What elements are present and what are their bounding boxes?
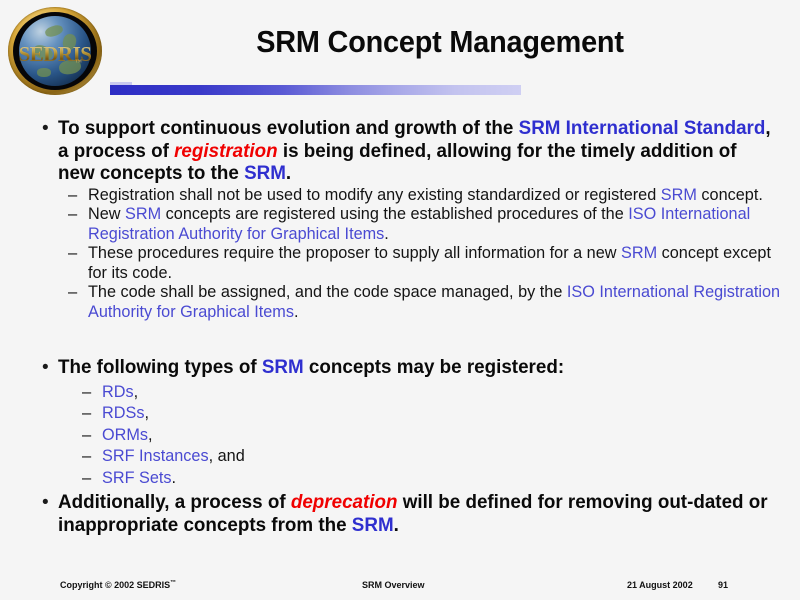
bullet-item-level2: –SRF Instances, and	[58, 446, 800, 468]
bullet-item-level2: –New SRM concepts are registered using t…	[58, 205, 800, 244]
lead-run: SRM	[262, 356, 304, 378]
sub-run: ORMs	[102, 426, 148, 444]
footer-date: 21 August 2002	[627, 580, 693, 590]
sub-run: The code shall be assigned, and the code…	[88, 283, 567, 301]
bullet-dash-icon: –	[82, 468, 91, 490]
bullet-level2-text: The code shall be assigned, and the code…	[88, 283, 789, 322]
bullet-list-level2: –RDs,–RDSs,–ORMs,–SRF Instances, and–SRF…	[58, 382, 800, 490]
bullet-level1-text: To support continuous evolution and grow…	[58, 117, 774, 185]
lead-run: SRM International Standard	[519, 117, 766, 139]
bullet-item-level1: •To support continuous evolution and gro…	[0, 117, 800, 322]
bullet-block-3: •Additionally, a process of deprecation …	[0, 491, 800, 536]
sub-run: .	[384, 225, 389, 243]
bullet-item-level2: –RDs,	[58, 382, 800, 404]
bullet-dash-icon: –	[68, 283, 77, 303]
bullet-list-level1: •The following types of SRM concepts may…	[0, 356, 800, 489]
sub-run: .	[172, 469, 177, 487]
bullet-level2-text: RDs,	[102, 382, 790, 404]
bullet-item-level2: –These procedures require the proposer t…	[58, 244, 800, 283]
bullet-block-2: •The following types of SRM concepts may…	[0, 356, 800, 489]
sub-run: Registration shall not be used to modify…	[88, 186, 661, 204]
bullet-dash-icon: –	[82, 446, 91, 468]
lead-run: SRM	[244, 162, 286, 184]
lead-run: .	[286, 162, 291, 184]
bullet-level1-text: The following types of SRM concepts may …	[58, 356, 774, 379]
bullet-item-level2: –SRF Sets.	[58, 468, 800, 490]
bullet-level2-text: These procedures require the proposer to…	[88, 244, 789, 283]
sub-run: RDSs	[102, 404, 144, 422]
lead-run: SRM	[352, 514, 394, 536]
sub-run: , and	[209, 447, 245, 465]
bullet-level2-text: Registration shall not be used to modify…	[88, 186, 789, 206]
lead-run: deprecation	[291, 491, 398, 513]
bullet-dash-icon: –	[68, 205, 77, 225]
bullet-dash-icon: –	[82, 425, 91, 447]
sub-run: concept.	[697, 186, 763, 204]
footer-deck-name: SRM Overview	[362, 580, 425, 590]
slide-header: SEDRIS ™ SRM Concept Management	[0, 0, 800, 108]
trademark-icon: ™	[170, 580, 176, 586]
sub-run: ,	[148, 426, 153, 444]
bullet-dash-icon: –	[82, 382, 91, 404]
bullet-item-level2: –RDSs,	[58, 403, 800, 425]
sub-run: SRF Sets	[102, 469, 172, 487]
bullet-block-1: •To support continuous evolution and gro…	[0, 117, 800, 322]
logo-wordmark: SEDRIS	[13, 44, 97, 65]
slide-canvas: SEDRIS ™ SRM Concept Management •To supp…	[0, 0, 800, 600]
sub-run: New	[88, 205, 125, 223]
footer-copyright-text: Copyright © 2002 SEDRIS	[60, 580, 170, 590]
sub-run: SRM	[125, 205, 161, 223]
bullet-item-level2: –The code shall be assigned, and the cod…	[58, 283, 800, 322]
footer-copyright: Copyright © 2002 SEDRIS™	[60, 580, 176, 590]
bullet-list-level1: •Additionally, a process of deprecation …	[0, 491, 800, 536]
sedris-globe-logo: SEDRIS ™	[8, 7, 102, 95]
lead-run: The following types of	[58, 356, 262, 378]
bullet-dot-icon: •	[42, 357, 49, 380]
bullet-dash-icon: –	[68, 186, 77, 206]
sub-run: ,	[144, 404, 149, 422]
sub-run: These procedures require the proposer to…	[88, 244, 621, 262]
slide-body: •To support continuous evolution and gro…	[0, 108, 800, 566]
bullet-item-level1: •Additionally, a process of deprecation …	[0, 491, 800, 536]
sub-run: concepts are registered using the establ…	[161, 205, 628, 223]
bullet-level2-text: SRF Instances, and	[102, 446, 790, 468]
bullet-dot-icon: •	[42, 118, 49, 141]
bullet-list-level1: •To support continuous evolution and gro…	[0, 117, 800, 322]
page-title: SRM Concept Management	[133, 24, 747, 60]
lead-run: Additionally, a process of	[58, 491, 291, 513]
bullet-item-level2: –Registration shall not be used to modif…	[58, 186, 800, 206]
sub-run: ,	[134, 383, 139, 401]
slide-footer: Copyright © 2002 SEDRIS™ SRM Overview 21…	[0, 578, 800, 596]
title-gradient-rule	[110, 85, 521, 95]
lead-run: concepts may be registered:	[304, 356, 564, 378]
bullet-dash-icon: –	[68, 244, 77, 264]
bullet-level2-text: RDSs,	[102, 403, 790, 425]
logo-dark-disc: SEDRIS ™	[13, 12, 97, 90]
bullet-dot-icon: •	[42, 492, 49, 515]
bullet-item-level1: •The following types of SRM concepts may…	[0, 356, 800, 489]
sub-run: .	[294, 303, 299, 321]
bullet-level2-text: ORMs,	[102, 425, 790, 447]
lead-run: registration	[174, 140, 278, 162]
bullet-level2-text: SRF Sets.	[102, 468, 790, 490]
bullet-level1-text: Additionally, a process of deprecation w…	[58, 491, 774, 536]
sub-run: SRM	[621, 244, 657, 262]
lead-run: .	[394, 514, 399, 536]
bullet-dash-icon: –	[82, 403, 91, 425]
logo-trademark-icon: ™	[75, 58, 82, 66]
footer-page-number: 91	[718, 580, 728, 590]
bullet-list-level2: –Registration shall not be used to modif…	[58, 186, 800, 323]
sub-run: SRF Instances	[102, 447, 209, 465]
lead-run: To support continuous evolution and grow…	[58, 117, 519, 139]
bullet-level2-text: New SRM concepts are registered using th…	[88, 205, 789, 244]
sub-run: SRM	[661, 186, 697, 204]
bullet-item-level2: –ORMs,	[58, 425, 800, 447]
sub-run: RDs	[102, 383, 134, 401]
